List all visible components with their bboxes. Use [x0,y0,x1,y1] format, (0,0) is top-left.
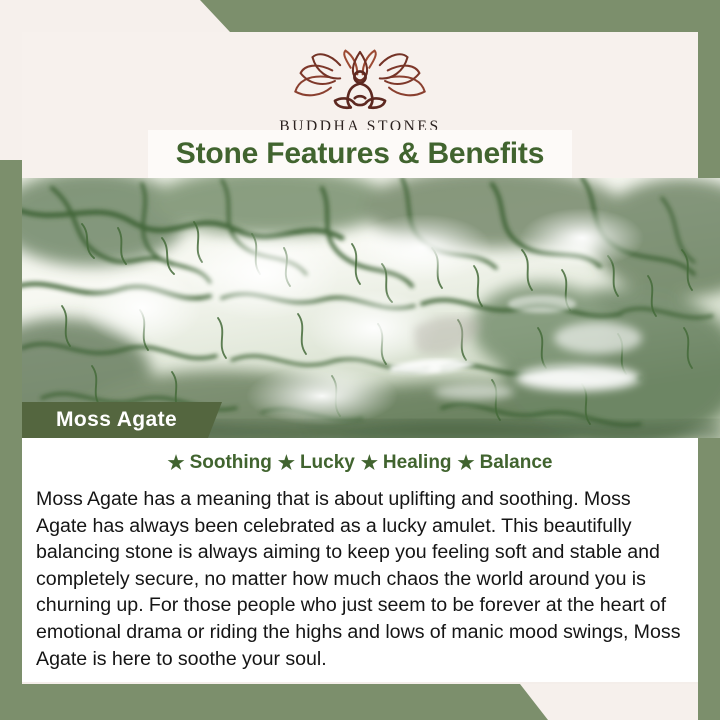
star-icon: ★ [168,454,185,473]
brand-lockup: BUDDHA STONES [22,48,698,136]
star-icon: ★ [458,454,475,473]
benefit-item-lucky: ★ Lucky [278,452,355,474]
benefit-item-soothing: ★ Soothing [168,452,272,474]
moss-agate-stone-photo [22,178,720,438]
benefits-row: ★ Soothing ★ Lucky ★ Healing ★ Balance [22,446,698,480]
stone-description-panel: ★ Soothing ★ Lucky ★ Healing ★ Balance M… [22,438,698,682]
benefit-label: Lucky [300,452,355,474]
decor-band-left [0,160,22,720]
stone-name-ribbon: Moss Agate [22,402,222,438]
lotus-meditation-icon [287,48,433,114]
page-title: Stone Features & Benefits [176,137,544,171]
stone-photo-art [22,178,720,438]
star-icon: ★ [278,454,295,473]
stone-name-label: Moss Agate [22,408,177,432]
decor-band-bottom [0,684,720,720]
decor-band-top [0,0,720,32]
star-icon: ★ [361,454,378,473]
benefit-item-healing: ★ Healing [361,452,452,474]
stone-info-poster: BUDDHA STONES Stone Features & Benefits [0,0,720,720]
stone-description-text: Moss Agate has a meaning that is about u… [36,486,684,672]
benefit-item-balance: ★ Balance [458,452,553,474]
page-title-plate: Stone Features & Benefits [148,130,572,178]
benefit-label: Healing [383,452,452,474]
benefit-label: Soothing [190,452,272,474]
benefit-label: Balance [480,452,553,474]
